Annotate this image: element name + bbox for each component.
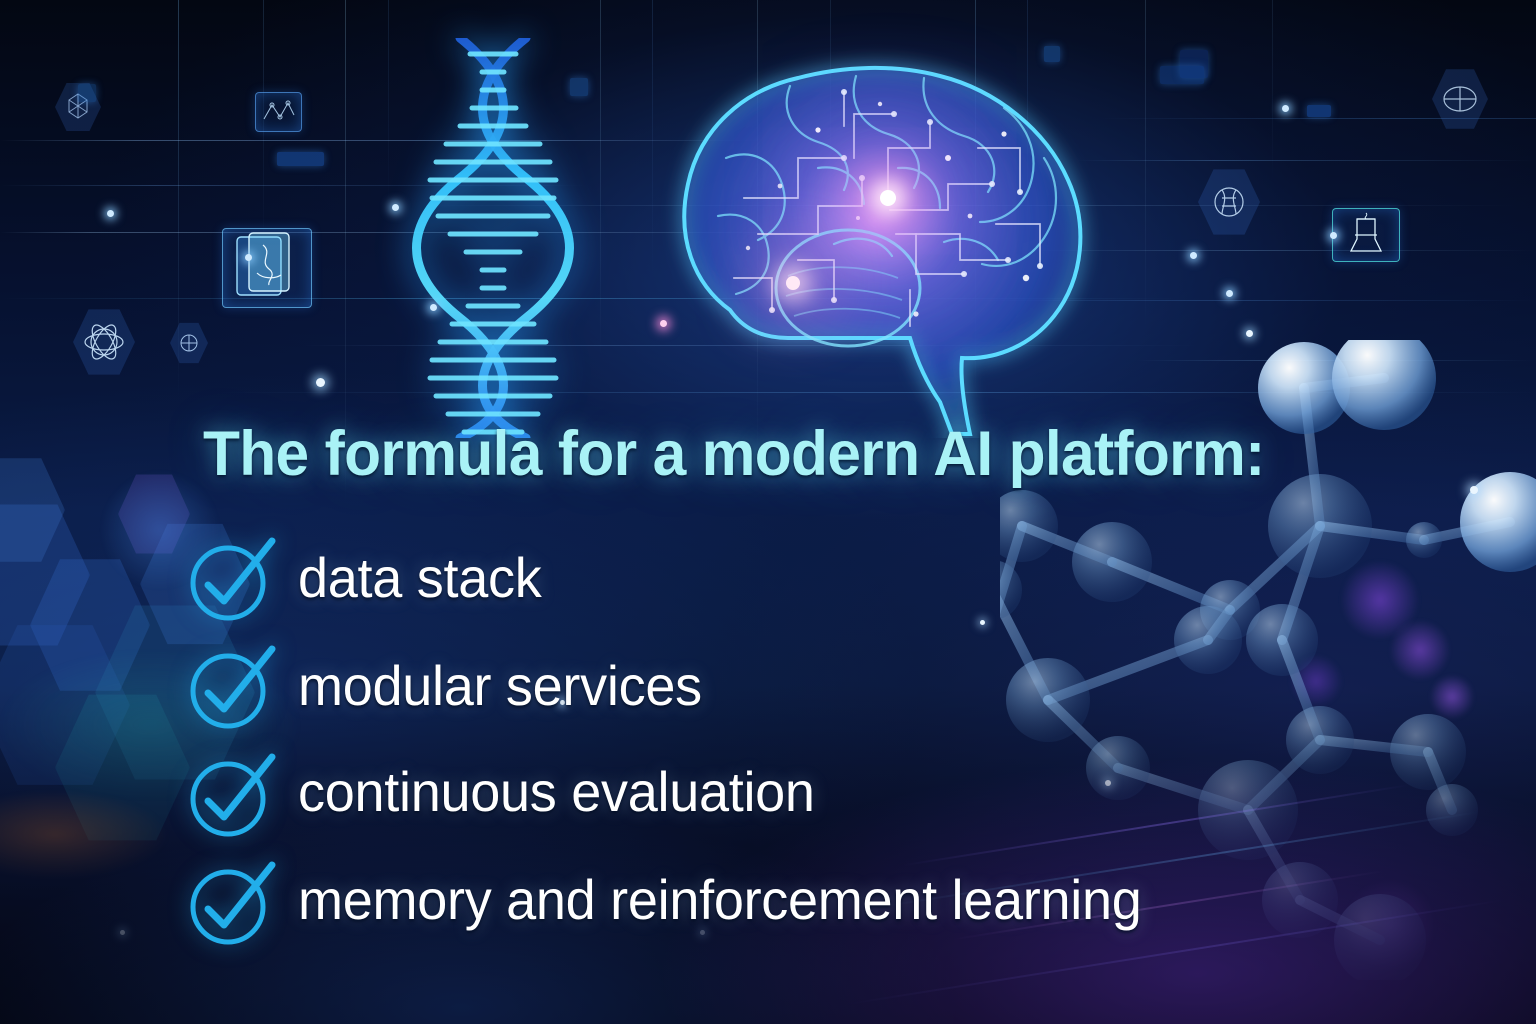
list-item-label: data stack: [298, 545, 541, 610]
list-item: continuous evaluation: [186, 743, 1446, 851]
list-item-label: memory and reinforcement learning: [298, 867, 1141, 932]
check-circle-icon: [186, 749, 278, 841]
content-overlay: The formula for a modern AI platform: da…: [0, 0, 1536, 1024]
check-circle-icon: [186, 533, 278, 625]
list-item: data stack: [186, 527, 1446, 635]
list-item-label: modular services: [298, 653, 702, 718]
check-circle-icon: [186, 857, 278, 949]
list-item-label: continuous evaluation: [298, 759, 815, 824]
page-title: The formula for a modern AI platform:: [203, 418, 1265, 490]
promo-banner: The formula for a modern AI platform: da…: [0, 0, 1536, 1024]
list-item: memory and reinforcement learning: [186, 851, 1446, 959]
feature-checklist: data stack modular services: [186, 527, 1446, 959]
list-item: modular services: [186, 635, 1446, 743]
check-circle-icon: [186, 641, 278, 733]
